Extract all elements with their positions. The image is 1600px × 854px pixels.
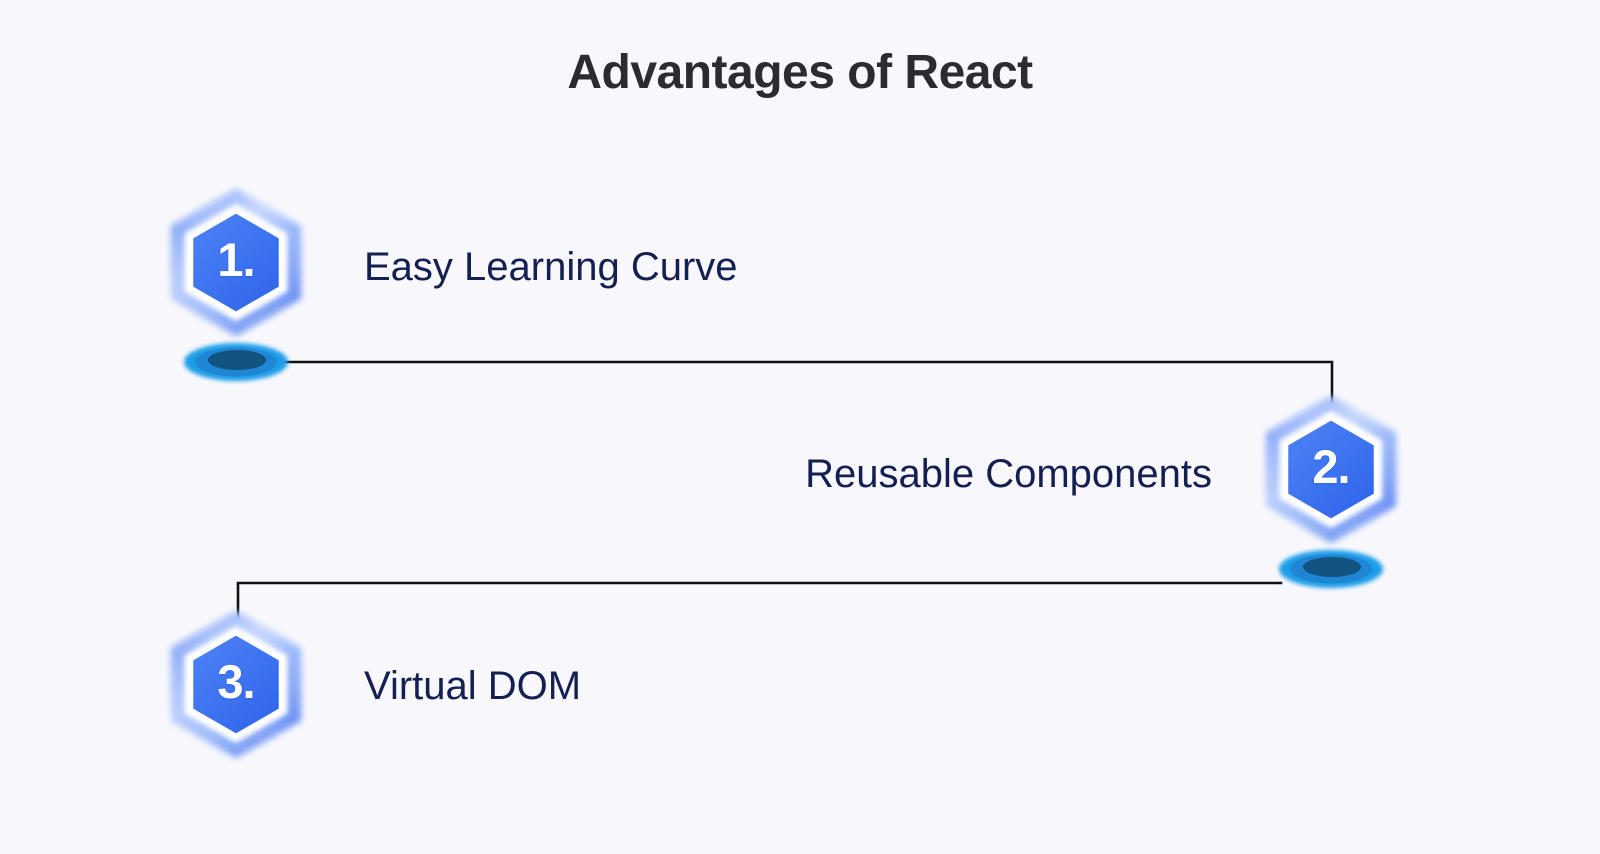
- badge-base-2: [1279, 550, 1383, 588]
- connector-2-to-3: [238, 583, 1281, 620]
- item-label-3: Virtual DOM: [364, 666, 581, 706]
- badge-number-3: 3.: [161, 608, 311, 758]
- badge-marker-2[interactable]: 2.: [1256, 393, 1406, 578]
- badge-marker-3[interactable]: 3.: [161, 608, 311, 793]
- infographic-canvas: Advantages of React: [0, 0, 1600, 854]
- badge-number-1: 1.: [161, 186, 311, 336]
- connector-1-to-2: [286, 362, 1332, 402]
- badge-base-1: [184, 343, 288, 381]
- badge-number-2: 2.: [1256, 393, 1406, 543]
- item-label-2: Reusable Components: [805, 454, 1212, 494]
- badge-marker-1[interactable]: 1.: [161, 186, 311, 371]
- page-title: Advantages of React: [0, 45, 1600, 100]
- item-label-1: Easy Learning Curve: [364, 247, 738, 287]
